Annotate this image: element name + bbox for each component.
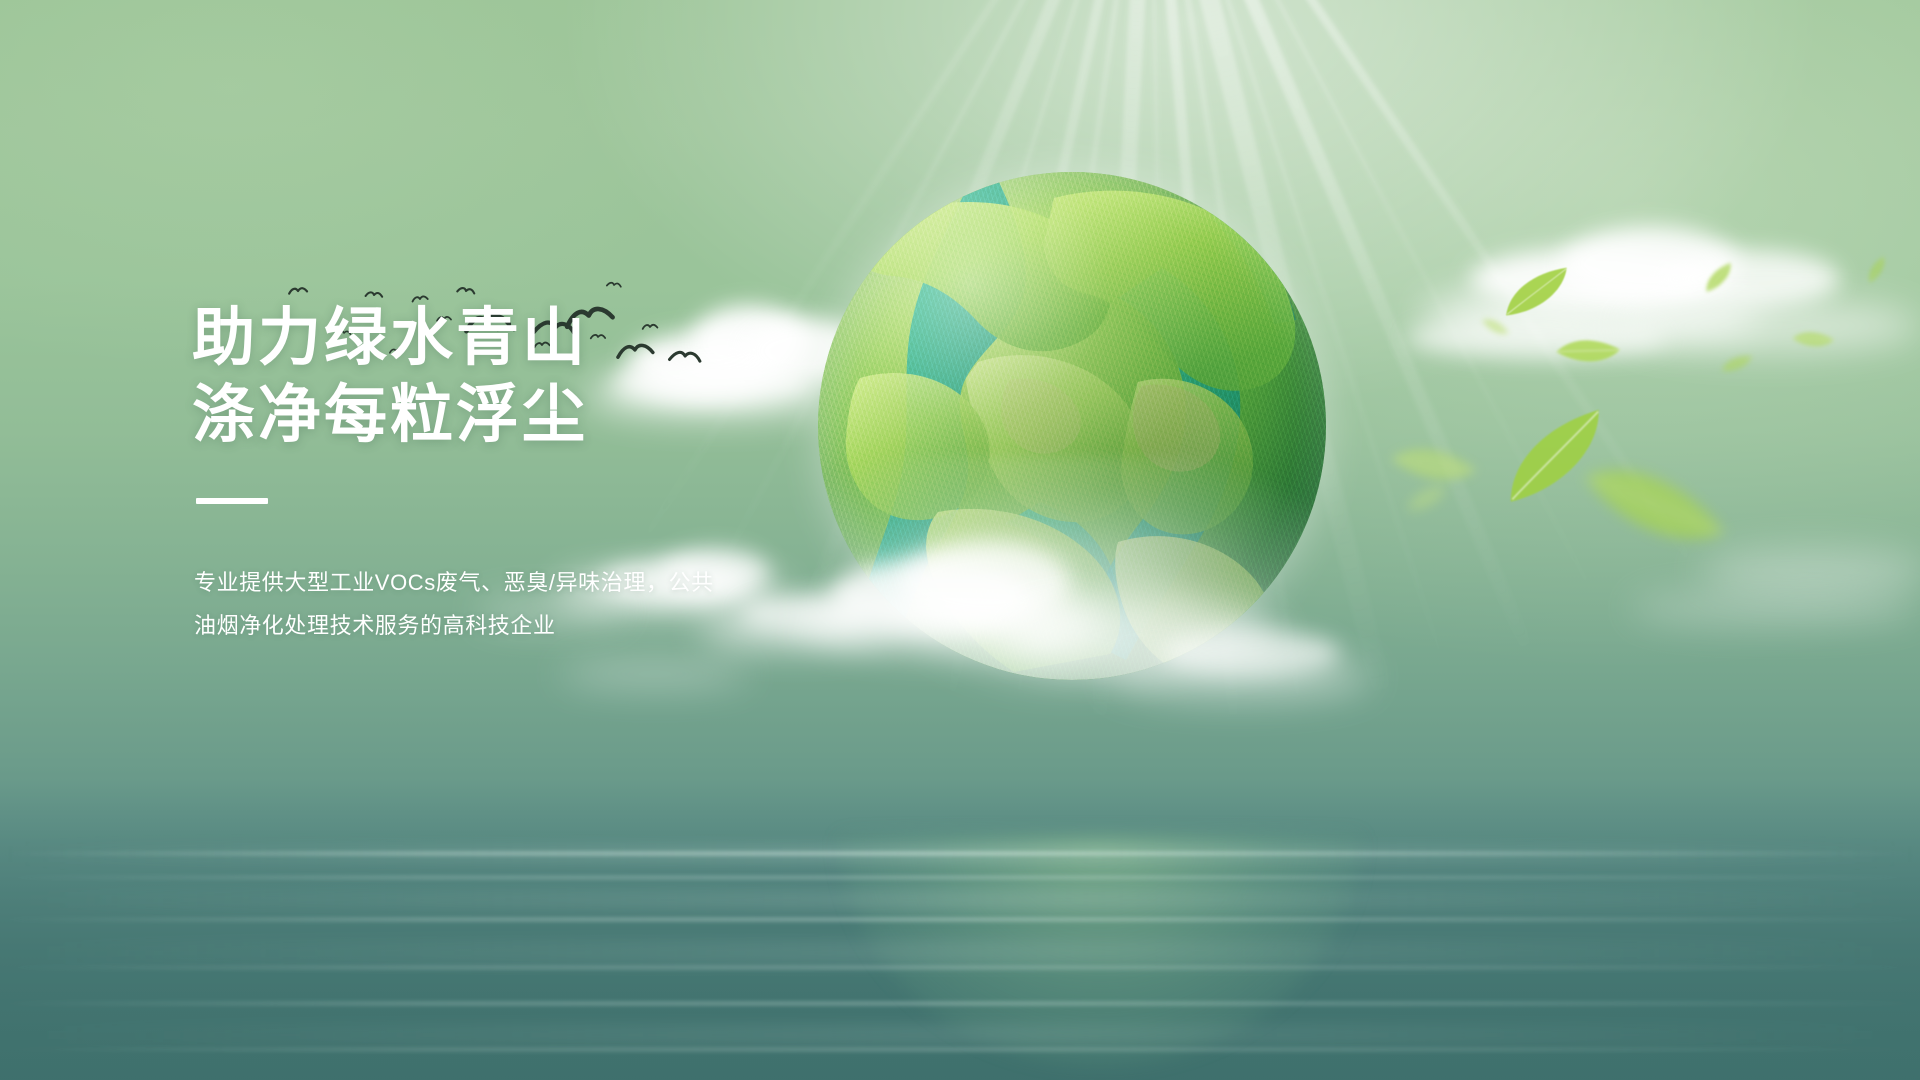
hero-description: 专业提供大型工业VOCs废气、恶臭/异味治理，公共油烟净化处理技术服务的高科技企… — [194, 562, 734, 648]
bird-icon — [456, 285, 476, 298]
page-title: 助力绿水青山 涤净每粒浮尘 — [192, 300, 912, 454]
hero-banner: 助力绿水青山 涤净每粒浮尘 专业提供大型工业VOCs废气、恶臭/异味治理，公共油… — [0, 0, 1920, 1080]
hero-copy-block: 助力绿水青山 涤净每粒浮尘 专业提供大型工业VOCs废气、恶臭/异味治理，公共油… — [192, 300, 912, 648]
bird-icon — [364, 289, 383, 300]
headline-line-2: 涤净每粒浮尘 — [192, 377, 912, 454]
headline-line-1: 助力绿水青山 — [192, 303, 588, 373]
bird-icon — [288, 285, 309, 296]
water-surface — [0, 780, 1920, 1080]
title-divider — [196, 498, 268, 504]
bird-icon — [606, 280, 623, 290]
